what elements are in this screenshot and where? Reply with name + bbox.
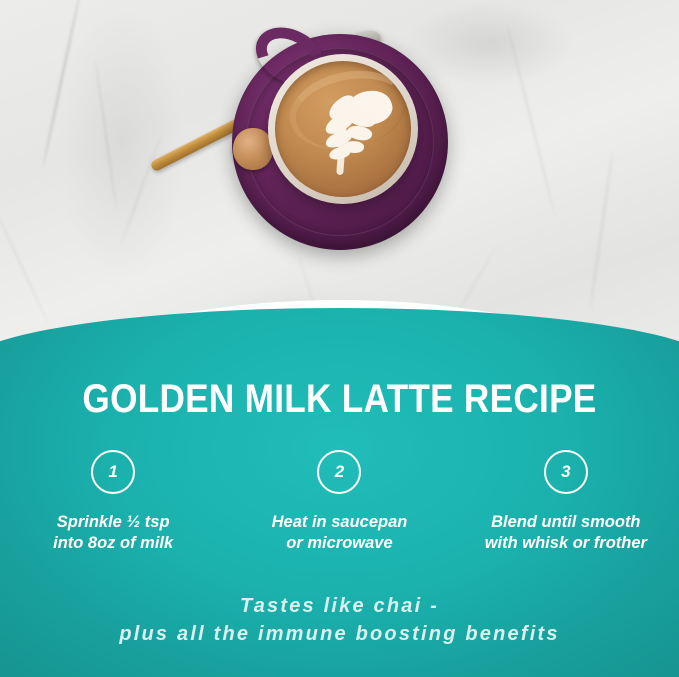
step-description: Blend until smooth with whisk or frother	[485, 512, 647, 554]
amaretti-cookie	[233, 128, 273, 170]
marble-vein	[120, 133, 163, 246]
step-number-badge: 1	[91, 450, 135, 494]
marble-vein	[506, 23, 556, 218]
step-description: Heat in saucepan or microwave	[272, 512, 408, 554]
recipe-steps: 1 Sprinkle ½ tsp into 8oz of milk 2 Heat…	[0, 450, 679, 554]
step-number-badge: 2	[317, 450, 361, 494]
recipe-step-1: 1 Sprinkle ½ tsp into 8oz of milk	[0, 450, 226, 554]
coffee-cup	[268, 54, 418, 204]
latte-surface	[275, 61, 411, 197]
marble-vein	[589, 151, 614, 310]
recipe-step-2: 2 Heat in saucepan or microwave	[226, 450, 452, 554]
recipe-poster: GOLDEN MILK LATTE RECIPE 1 Sprinkle ½ ts…	[0, 0, 679, 677]
page-title: GOLDEN MILK LATTE RECIPE	[41, 377, 639, 422]
recipe-step-3: 3 Blend until smooth with whisk or froth…	[453, 450, 679, 554]
marble-vein	[41, 0, 81, 168]
step-description: Sprinkle ½ tsp into 8oz of milk	[53, 512, 173, 554]
marble-vein	[95, 61, 118, 210]
step-number-badge: 3	[544, 450, 588, 494]
tagline: Tastes like chai - plus all the immune b…	[0, 592, 679, 649]
recipe-content: GOLDEN MILK LATTE RECIPE 1 Sprinkle ½ ts…	[0, 300, 679, 677]
